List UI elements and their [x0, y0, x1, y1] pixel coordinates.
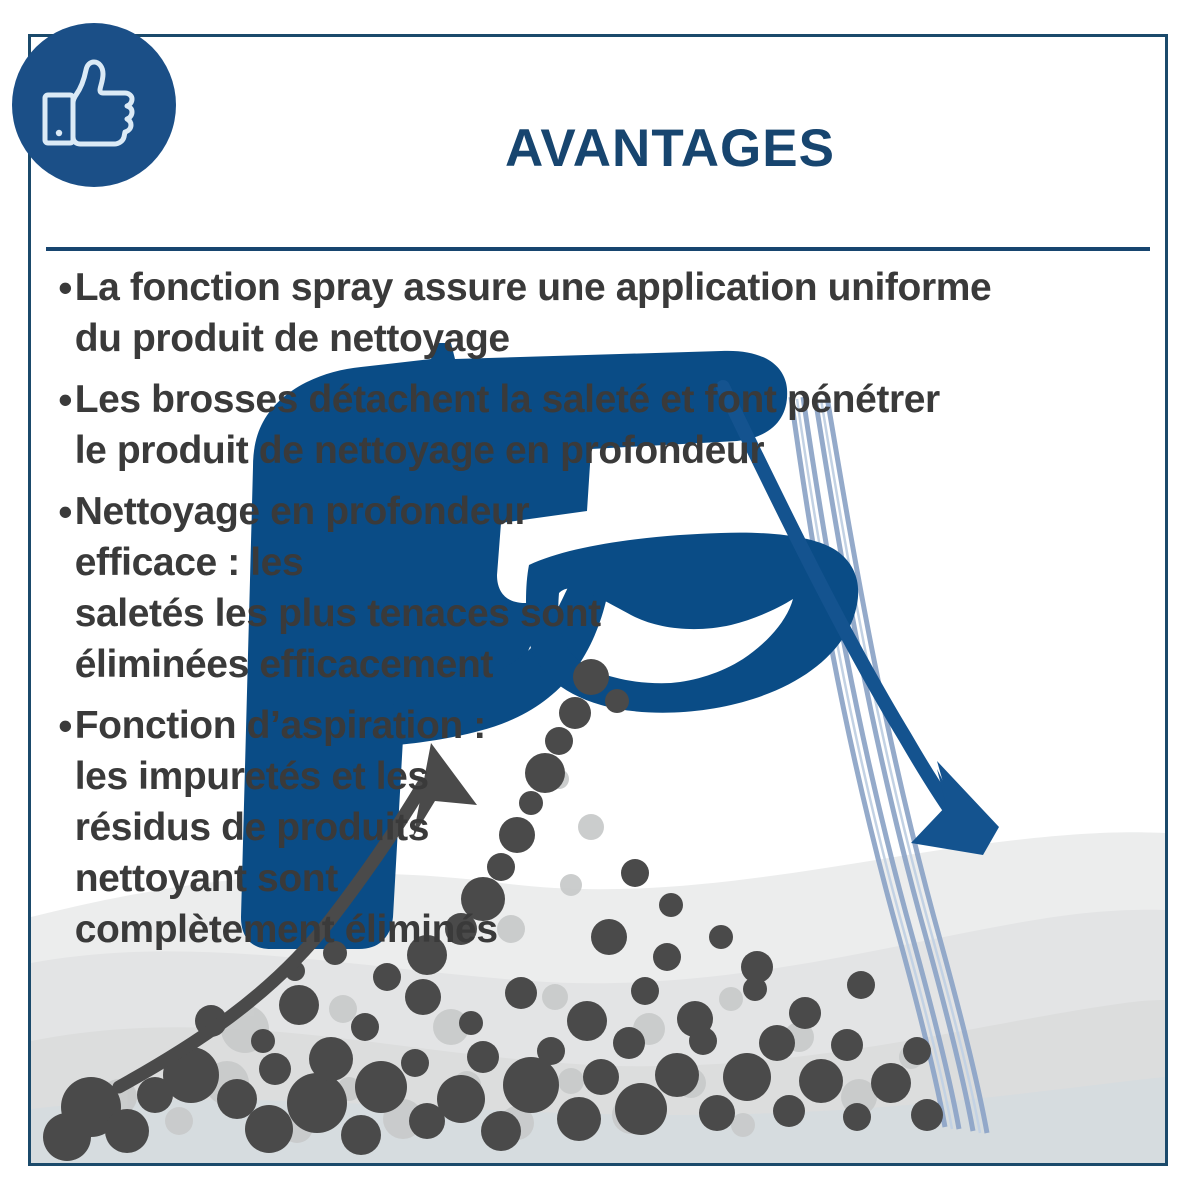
list-item: • Les brosses détachent la saleté et fon…: [58, 374, 1098, 476]
thumbs-up-badge: [12, 23, 176, 187]
bullet-marker-icon: •: [58, 486, 73, 538]
advantages-list: • La fonction spray assure une applicati…: [58, 262, 1098, 965]
thumbs-up-icon: [39, 53, 149, 157]
list-item-text: Les brosses détachent la saleté et font …: [75, 374, 940, 476]
list-item: • La fonction spray assure une applicati…: [58, 262, 1098, 364]
title-divider: [46, 247, 1150, 251]
list-item-text: La fonction spray assure une application…: [75, 262, 992, 364]
list-item-text: Nettoyage en profondeur efficace : les s…: [75, 486, 675, 690]
bullet-marker-icon: •: [58, 262, 73, 314]
page-title: AVANTAGES: [200, 118, 1140, 179]
advantages-infographic: AVANTAGES • La fonction spray assure une…: [0, 0, 1200, 1200]
list-item: • Nettoyage en profondeur efficace : les…: [58, 486, 1098, 690]
list-item-text: Fonction d’aspiration : les impuretés et…: [75, 700, 498, 955]
list-item: • Fonction d’aspiration : les impuretés …: [58, 700, 1098, 955]
bullet-marker-icon: •: [58, 374, 73, 426]
bullet-marker-icon: •: [58, 700, 73, 752]
